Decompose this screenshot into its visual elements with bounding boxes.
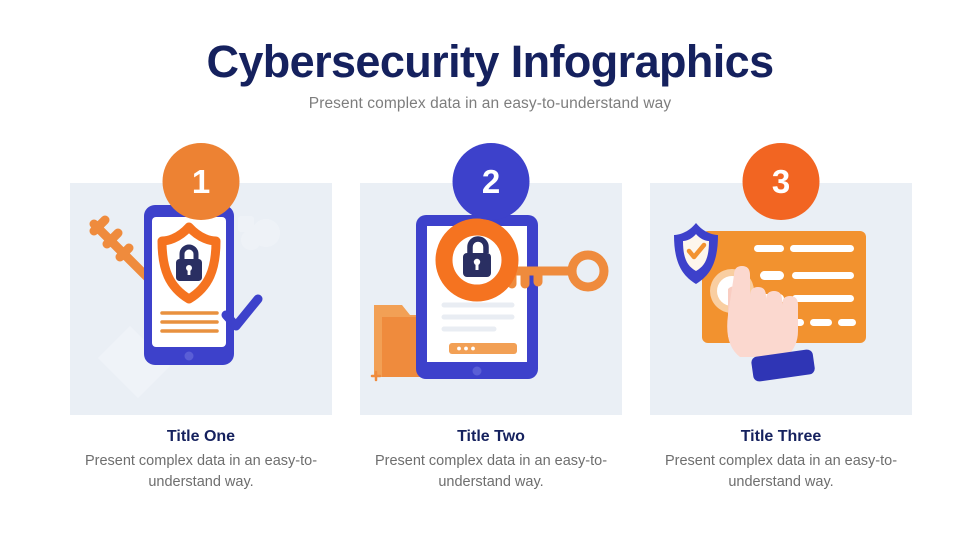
card-three-title: Title Three: [650, 428, 912, 446]
cards-row: 1 Title One Present complex data in an e…: [70, 143, 912, 493]
header: Cybersecurity Infographics Present compl…: [0, 38, 980, 113]
card-one-number-badge: 1: [163, 143, 240, 220]
card-one-number: 1: [192, 165, 210, 198]
card-two-number: 2: [482, 165, 500, 198]
card-one[interactable]: 1 Title One Present complex data in an e…: [70, 143, 332, 493]
card-two-number-badge: 2: [453, 143, 530, 220]
card-three[interactable]: 3 Title Three Present complex data in an…: [650, 143, 912, 493]
page-subtitle: Present complex data in an easy-to-under…: [0, 95, 980, 113]
card-two-description: Present complex data in an easy-to-under…: [356, 451, 626, 493]
key-ring-icon: [572, 255, 604, 287]
password-dots: [457, 347, 475, 351]
page-title: Cybersecurity Infographics: [0, 38, 980, 85]
phone-home-button: [185, 352, 194, 361]
card-one-description: Present complex data in an easy-to-under…: [66, 451, 336, 493]
card-two[interactable]: 2 Title Two Present complex data in an e…: [360, 143, 622, 493]
card-three-number: 3: [772, 165, 790, 198]
slide-canvas: Cybersecurity Infographics Present compl…: [0, 0, 980, 551]
tablet-home-button: [473, 367, 482, 376]
card-one-title: Title One: [70, 428, 332, 446]
card-two-title: Title Two: [360, 428, 622, 446]
card-three-number-badge: 3: [743, 143, 820, 220]
card-three-description: Present complex data in an easy-to-under…: [646, 451, 916, 493]
